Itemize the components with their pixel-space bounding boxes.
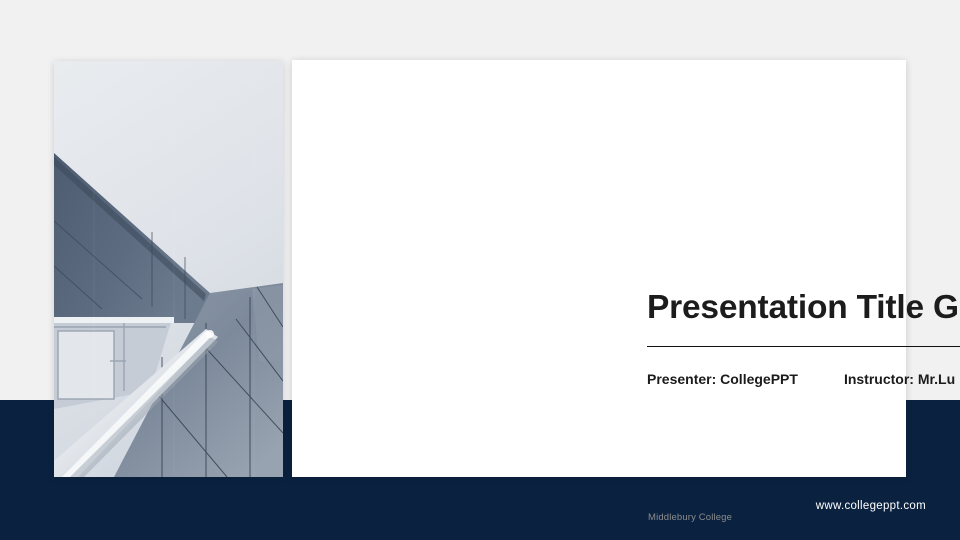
presenter-label: Presenter: CollegePPT: [647, 371, 798, 387]
instructor-label: Instructor: Mr.Lu: [844, 371, 955, 387]
slide-content-card: 1800: [292, 60, 906, 477]
organization-label: Middlebury College: [648, 512, 732, 523]
architecture-photo: [54, 61, 283, 477]
page-title: Presentation Title Goes Here: [647, 288, 960, 328]
footer-url[interactable]: www.collegeppt.com: [816, 500, 926, 512]
title-divider: [647, 346, 960, 347]
slide-stage: www.collegeppt.com 1800: [0, 0, 960, 540]
presenter-meta-row: Presenter: CollegePPT Instructor: Mr.Lu: [647, 371, 955, 387]
